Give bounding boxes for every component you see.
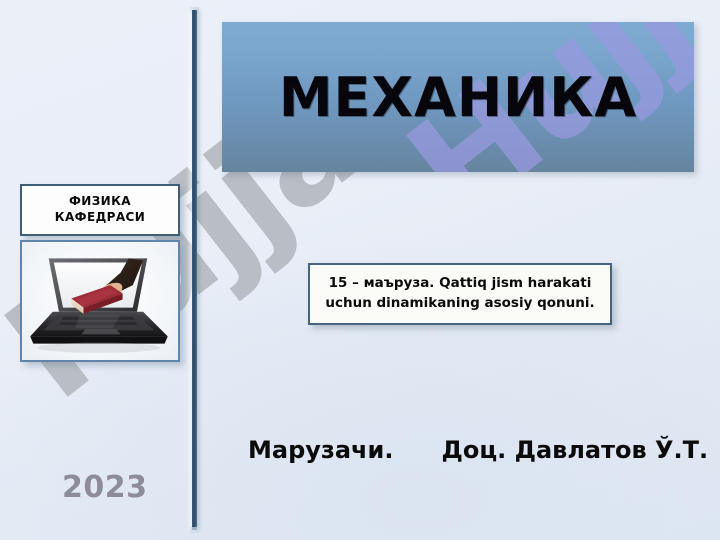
- department-label-box: ФИЗИКА КАФЕДРАСИ: [20, 184, 180, 236]
- page-title: МЕХАНИКА: [279, 66, 637, 129]
- presenter-row: Марузачи. Доц. Давлатов Ў.Т.: [248, 436, 708, 464]
- presenter-label: Марузачи.: [248, 436, 393, 464]
- lecture-topic-line-1: 15 – маъруза. Qattiq jism harakati: [329, 274, 592, 294]
- presenter-name: Доц. Давлатов Ў.Т.: [441, 436, 708, 464]
- department-line-1: ФИЗИКА: [69, 195, 131, 209]
- laptop-illustration-svg: [22, 242, 178, 359]
- lecture-topic-line-2: uchun dinamikaning asosiy qonuni.: [325, 294, 594, 314]
- lecture-topic-box: 15 – маъруза. Qattiq jism harakati uchun…: [308, 263, 612, 325]
- presentation-slide: Hujjat Hujjat МЕХАНИКА ФИЗИКА КАФЕДРАСИ: [0, 0, 720, 540]
- year-text: 2023: [62, 470, 148, 505]
- title-banner: Hujjat МЕХАНИКА: [222, 22, 694, 172]
- divider-cap-bottom: [190, 527, 199, 533]
- vertical-divider: [192, 10, 197, 530]
- laptop-hand-book-image: [20, 240, 180, 362]
- department-line-2: КАФЕДРАСИ: [55, 211, 145, 225]
